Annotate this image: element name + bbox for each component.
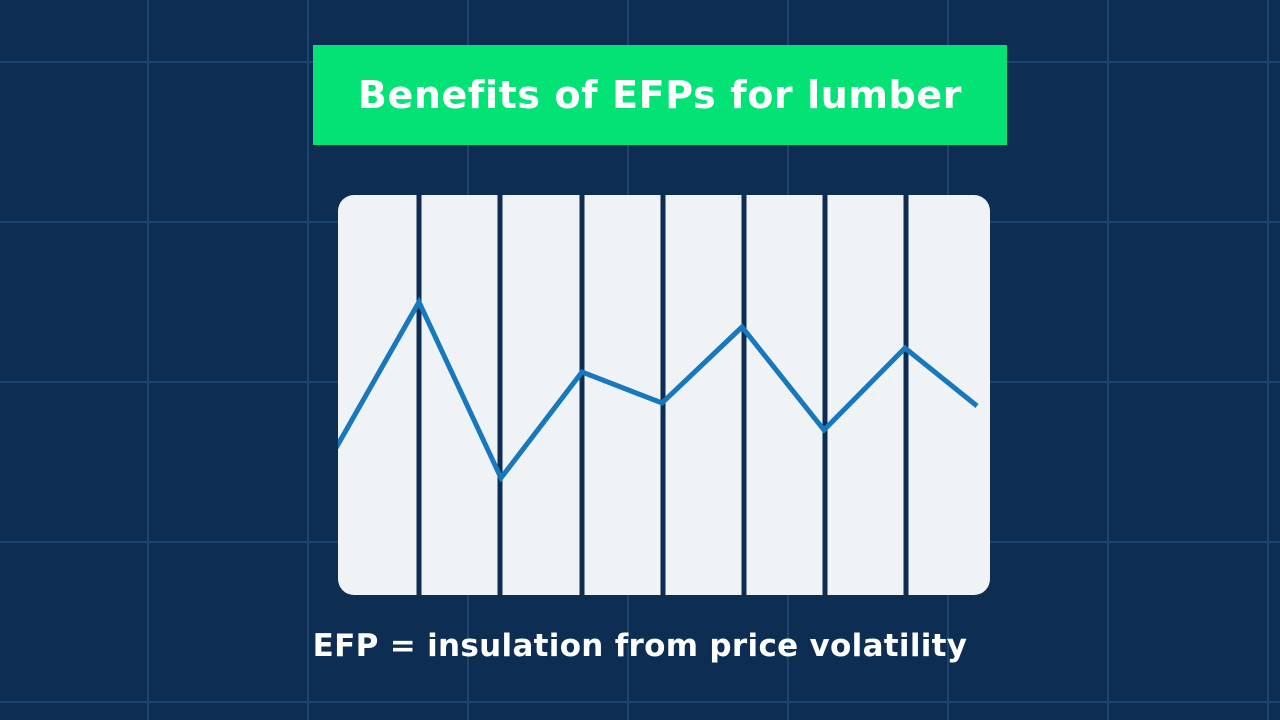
- page-title: Benefits of EFPs for lumber: [358, 73, 962, 117]
- chart-card: [338, 195, 990, 595]
- chart-series-line: [338, 302, 977, 478]
- title-banner: Benefits of EFPs for lumber: [313, 45, 1007, 145]
- caption-text: EFP = insulation from price volatility: [313, 628, 968, 664]
- price-line-chart: [338, 195, 990, 595]
- caption: EFP = insulation from price volatility: [0, 628, 1280, 664]
- slide-canvas: Benefits of EFPs for lumber EFP = insula…: [0, 0, 1280, 720]
